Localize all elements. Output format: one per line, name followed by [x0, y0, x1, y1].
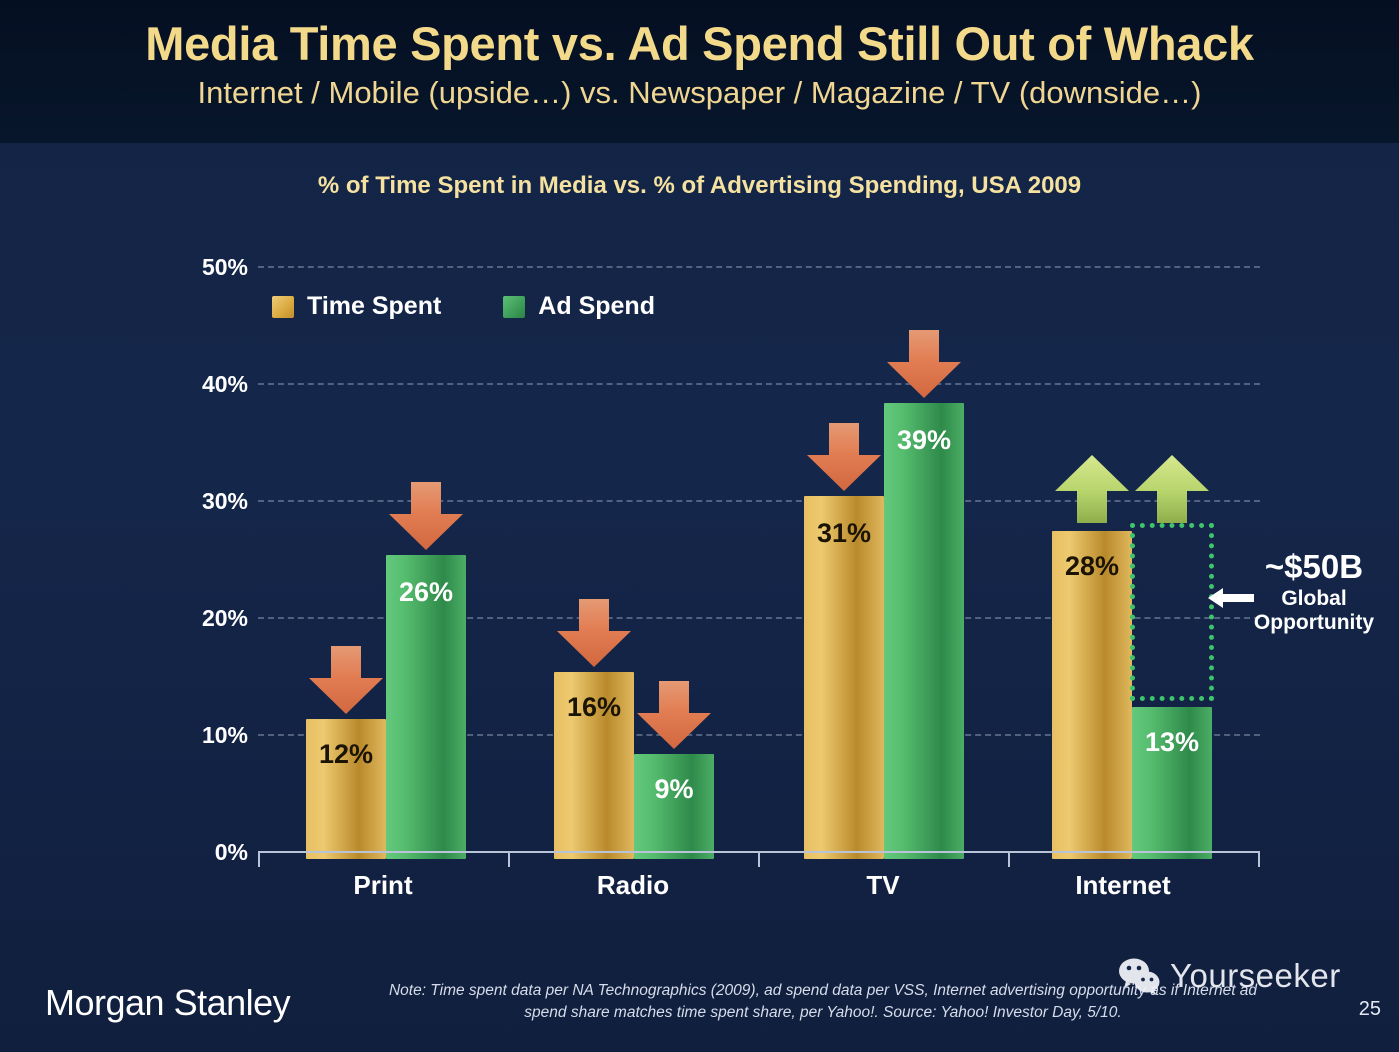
- bar-internet-time-spent[interactable]: 28%: [1052, 531, 1132, 859]
- bar-internet-ad-spend[interactable]: 13%: [1132, 707, 1212, 859]
- x-category-label-internet: Internet: [1048, 870, 1198, 901]
- page-number: 25: [1359, 998, 1381, 1021]
- gridline-50: [258, 266, 1260, 268]
- y-tick-20: 20%: [170, 605, 248, 632]
- bar-print-time-spent[interactable]: 12%: [306, 719, 386, 859]
- x-axis-tick-2: [758, 851, 760, 867]
- arrow-up-icon-internet-ad-spend: [1133, 453, 1211, 525]
- bar-radio-ad-spend[interactable]: 9%: [634, 754, 714, 859]
- gridline-40: [258, 383, 1260, 385]
- arrow-up-icon-internet-time-spent: [1053, 453, 1131, 525]
- x-category-label-print: Print: [308, 870, 458, 901]
- x-axis-tick-1: [508, 851, 510, 867]
- y-tick-10: 10%: [170, 722, 248, 749]
- legend-swatch-icon-time-spent: [272, 296, 294, 318]
- arrow-down-icon-print-ad-spend: [387, 480, 465, 552]
- legend-label-ad-spend: Ad Spend: [538, 292, 655, 321]
- legend-item-ad-spend[interactable]: Ad Spend: [503, 292, 655, 321]
- morgan-stanley-logo: Morgan Stanley: [45, 982, 290, 1024]
- arrow-down-icon-radio-time-spent: [555, 597, 633, 669]
- bar-label-internet-ad-spend: 13%: [1132, 727, 1212, 758]
- arrow-down-icon-radio-ad-spend: [635, 679, 713, 751]
- plot-area: 12% 26% 16% 9%: [258, 258, 1260, 859]
- callout-subtext-line-2: Opportunity: [1228, 611, 1399, 635]
- y-tick-40: 40%: [170, 371, 248, 398]
- bar-tv-time-spent[interactable]: 31%: [804, 496, 884, 859]
- legend-item-time-spent[interactable]: Time Spent: [272, 292, 441, 321]
- y-tick-50: 50%: [170, 254, 248, 281]
- bar-label-print-ad-spend: 26%: [386, 577, 466, 608]
- arrow-down-icon-print-time-spent: [307, 644, 385, 716]
- x-category-label-tv: TV: [808, 870, 958, 901]
- slide-canvas: Media Time Spent vs. Ad Spend Still Out …: [0, 0, 1399, 1052]
- bar-label-tv-time-spent: 31%: [804, 518, 884, 549]
- x-axis-tick-start: [258, 851, 260, 867]
- bar-tv-ad-spend[interactable]: 39%: [884, 403, 964, 859]
- opportunity-callout: ~$50B Global Opportunity: [1228, 550, 1399, 635]
- arrow-down-icon-tv-ad-spend: [885, 328, 963, 400]
- x-axis-tick-3: [1008, 851, 1010, 867]
- y-tick-30: 30%: [170, 488, 248, 515]
- footer-note: Note: Time spent data per NA Technograph…: [318, 980, 1328, 1025]
- bar-label-radio-ad-spend: 9%: [634, 774, 714, 805]
- x-axis-tick-end: [1258, 851, 1260, 867]
- y-axis-tick-labels: 0% 10% 20% 30% 40% 50%: [170, 0, 248, 1052]
- callout-value: ~$50B: [1228, 550, 1399, 585]
- bar-label-radio-time-spent: 16%: [554, 692, 634, 723]
- opportunity-box: [1130, 523, 1214, 701]
- callout-subtext: Global Opportunity: [1228, 587, 1399, 636]
- legend-swatch-icon-ad-spend: [503, 296, 525, 318]
- footer-note-line-1: Note: Time spent data per NA Technograph…: [318, 980, 1328, 1002]
- bar-label-internet-time-spent: 28%: [1052, 551, 1132, 582]
- arrow-down-icon-tv-time-spent: [805, 421, 883, 493]
- bar-label-print-time-spent: 12%: [306, 739, 386, 770]
- bar-print-ad-spend[interactable]: 26%: [386, 555, 466, 859]
- bar-radio-time-spent[interactable]: 16%: [554, 672, 634, 859]
- bar-label-tv-ad-spend: 39%: [884, 425, 964, 456]
- footer-note-line-2: spend share matches time spent share, pe…: [318, 1002, 1328, 1024]
- y-tick-0: 0%: [170, 839, 248, 866]
- legend-label-time-spent: Time Spent: [307, 292, 441, 321]
- chart-legend: Time Spent Ad Spend: [272, 292, 655, 321]
- callout-subtext-line-1: Global: [1228, 587, 1399, 611]
- x-category-label-radio: Radio: [558, 870, 708, 901]
